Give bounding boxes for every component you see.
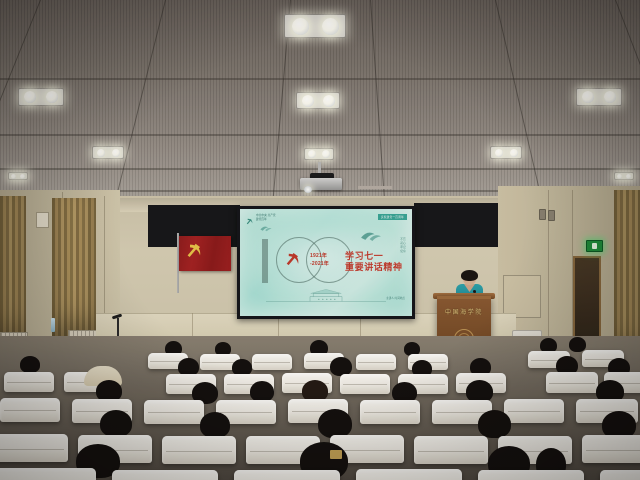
slide-footnote: 主讲人 时间地点 bbox=[386, 296, 405, 300]
chair bbox=[340, 374, 390, 394]
ceiling-seam bbox=[0, 134, 640, 136]
slide-year-start: 1921年 bbox=[310, 253, 329, 261]
chair bbox=[0, 468, 96, 480]
slide-numeral-one bbox=[262, 239, 268, 283]
hair-clip bbox=[330, 450, 342, 459]
chair bbox=[112, 470, 218, 480]
chair bbox=[234, 470, 340, 480]
ceiling-light bbox=[8, 172, 28, 180]
dove-icon bbox=[360, 229, 382, 247]
audience-head bbox=[478, 410, 511, 438]
presentation-slide: 中共中央 共产党 建党百年 庆祝建党一百周年 1921年 -2021年 学习七一 bbox=[240, 209, 412, 316]
hammer-sickle-icon bbox=[184, 241, 204, 259]
window-curtain-center-left bbox=[52, 198, 96, 340]
ceiling-light bbox=[614, 172, 634, 180]
audience-head bbox=[200, 412, 230, 438]
dove-icon bbox=[260, 219, 272, 237]
slide-badge: 庆祝建党一百周年 bbox=[378, 214, 407, 220]
slide-headline-line2: 重要讲话精神 bbox=[345, 262, 403, 273]
party-flag bbox=[179, 236, 231, 271]
ceiling-light bbox=[284, 14, 346, 38]
wall-speaker-icon bbox=[548, 210, 555, 221]
audience-head bbox=[318, 409, 352, 438]
audience-head bbox=[250, 381, 274, 402]
chair bbox=[600, 470, 640, 480]
audience-head bbox=[20, 356, 40, 373]
window-curtain-right bbox=[614, 190, 640, 360]
wall-access-hatch bbox=[503, 275, 541, 318]
window-curtain-left bbox=[0, 196, 26, 344]
slide-headline: 学习七一 重要讲话精神 bbox=[345, 251, 403, 274]
ceiling-light bbox=[576, 88, 622, 106]
chair bbox=[0, 398, 60, 422]
ceiling-light bbox=[18, 88, 64, 106]
chair bbox=[162, 436, 236, 464]
chair bbox=[356, 354, 396, 370]
chair bbox=[546, 372, 598, 393]
chair bbox=[360, 400, 420, 424]
projector-lens bbox=[304, 186, 312, 193]
projection-screen: 中共中央 共产党 建党百年 庆祝建党一百周年 1921年 -2021年 学习七一 bbox=[237, 206, 415, 319]
chair bbox=[414, 436, 488, 464]
podium-institution-label: 中国海学院 bbox=[437, 307, 491, 316]
ceiling-light bbox=[490, 146, 522, 159]
ceiling-vent bbox=[358, 186, 392, 189]
audience-head bbox=[100, 410, 132, 437]
tiananmen-icon bbox=[266, 287, 386, 308]
chair bbox=[582, 435, 640, 463]
ceiling-light bbox=[304, 148, 334, 160]
wall-dark-panel-right bbox=[414, 203, 500, 247]
slide-vertical-text: 不忘初心牢记使命 bbox=[400, 237, 406, 253]
exit-sign-icon bbox=[586, 240, 603, 252]
chair bbox=[504, 399, 564, 423]
water-bottle bbox=[51, 318, 55, 332]
slide-years: 1921年 -2021年 bbox=[310, 253, 329, 268]
ceiling-seam bbox=[0, 78, 640, 80]
slide-logo-emblem-icon bbox=[245, 213, 254, 222]
chair bbox=[4, 372, 54, 392]
chair bbox=[144, 400, 204, 424]
chair bbox=[356, 469, 462, 480]
slide-party-emblem-icon bbox=[284, 251, 301, 268]
auditorium-photo: 中共中央 共产党 建党百年 庆祝建党一百周年 1921年 -2021年 学习七一 bbox=[0, 0, 640, 480]
projector-body bbox=[300, 178, 342, 190]
ceiling-light bbox=[296, 92, 340, 109]
audience-seating bbox=[0, 336, 640, 480]
chair bbox=[478, 470, 584, 480]
wall-control-panel[interactable] bbox=[36, 212, 49, 228]
chair bbox=[0, 434, 68, 462]
wall-speaker-icon bbox=[539, 209, 546, 220]
ceiling-projector bbox=[300, 172, 342, 190]
slide-headline-line1: 学习七一 bbox=[345, 251, 403, 262]
projector-mount bbox=[318, 162, 321, 173]
chair bbox=[252, 354, 292, 370]
ceiling-light bbox=[92, 146, 124, 159]
presenter-hair bbox=[461, 270, 478, 281]
slide-year-end: -2021年 bbox=[310, 261, 329, 269]
